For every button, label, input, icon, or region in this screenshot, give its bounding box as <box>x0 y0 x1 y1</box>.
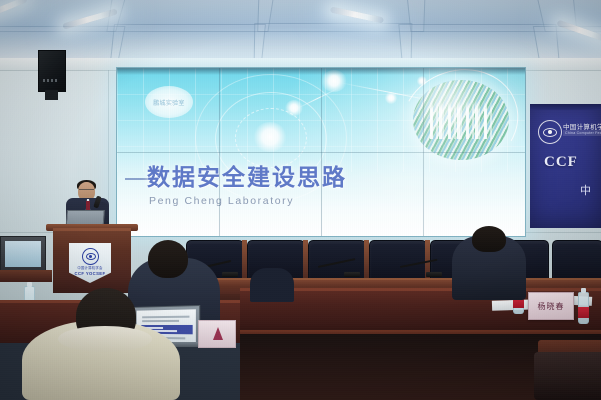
conference-room-photo: 鹏城实验室 数据安全建设思路 Peng Cheng Laboratory 中国计… <box>0 0 601 400</box>
pcl-logo-watermark: 鹏城实验室 <box>145 86 193 118</box>
name-placard: 杨晓春 <box>528 292 574 320</box>
pennant-line-1: 中国计算机学会 <box>69 265 111 270</box>
microphone-base-1 <box>222 272 238 277</box>
foreground-chair-back <box>534 352 601 400</box>
ccf-sub-character: 中 <box>580 182 591 198</box>
table-tent-card <box>198 320 236 348</box>
name-placard-text: 杨晓春 <box>538 301 565 312</box>
ccf-wall-banner: 中国计算机学会 China Computer Federation CCF 中 <box>530 104 601 228</box>
side-shelf <box>0 270 52 282</box>
globe-city-graphic <box>413 80 509 160</box>
stage-chair-7 <box>552 240 601 282</box>
slide-title: 数据安全建设思路 <box>147 167 347 190</box>
tech-circle-core <box>253 122 287 152</box>
led-video-wall[interactable]: 鹏城实验室 数据安全建设思路 Peng Cheng Laboratory <box>116 67 526 237</box>
pcl-watermark-text: 鹏城实验室 <box>153 98 185 107</box>
attendee-far <box>250 268 294 302</box>
ccf-org-name-en: China Computer Federation <box>563 130 601 136</box>
network-node-2 <box>285 100 303 116</box>
attendee-right-head <box>472 226 506 252</box>
pennant-line-2: CCF YOCSEF <box>69 271 111 276</box>
attendee-dark-head <box>148 240 188 278</box>
ccf-acronym: CCF <box>544 154 578 171</box>
microphone-base-3 <box>426 272 442 277</box>
side-monitor <box>0 236 46 274</box>
slide-subtitle: Peng Cheng Laboratory <box>149 195 294 207</box>
stage-chair-4 <box>369 240 427 282</box>
ccf-eye-logo-icon <box>538 120 562 144</box>
video-wall-seam-h1 <box>117 152 525 153</box>
ccf-eye-logo-icon-pennant <box>82 248 99 265</box>
wall-speaker <box>38 50 66 92</box>
microphone-base-2 <box>344 272 360 277</box>
presenter-glasses <box>79 189 94 193</box>
water-bottle-desk-2 <box>578 292 589 324</box>
attendee-hoodie-collar <box>58 326 152 352</box>
